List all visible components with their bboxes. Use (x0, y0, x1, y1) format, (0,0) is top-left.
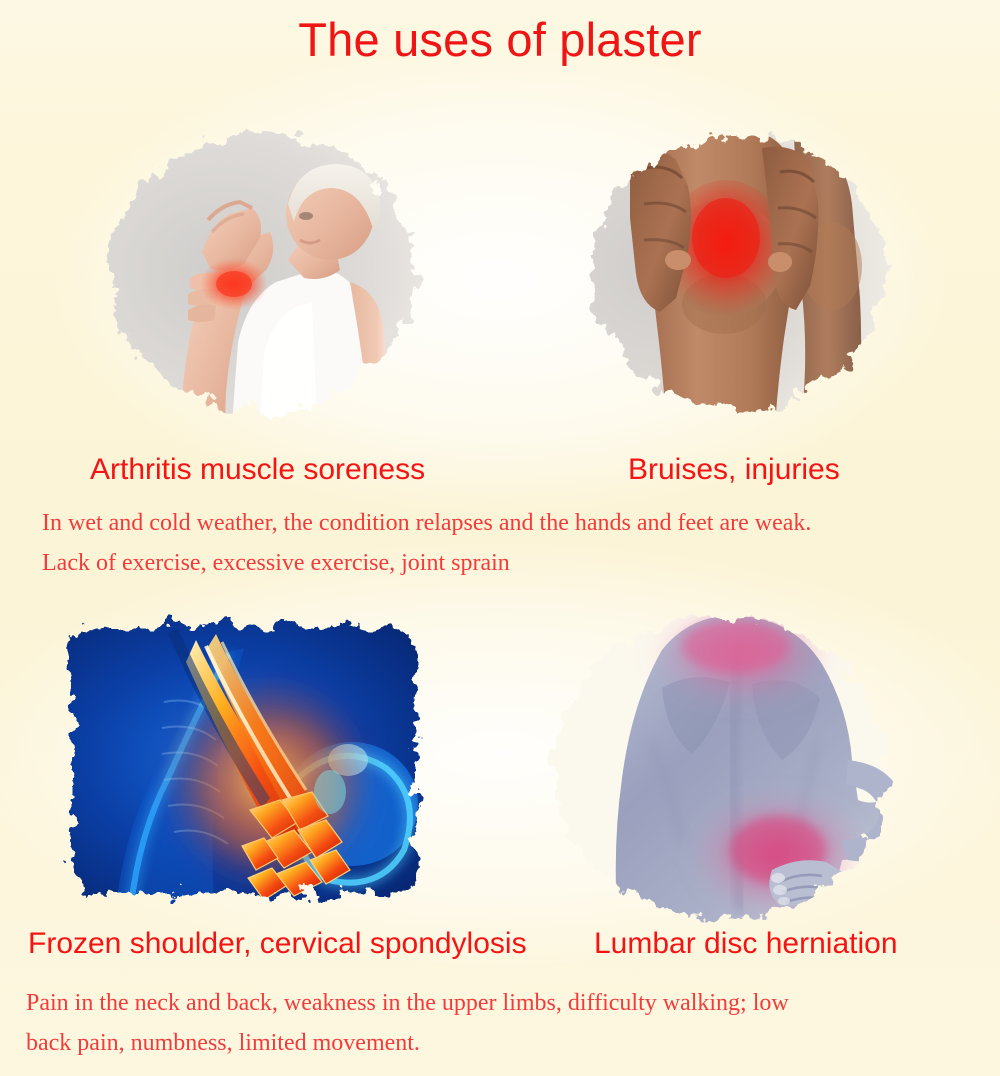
xray-shoulder-illustration (18, 592, 458, 922)
paragraph-upper-line-1: In wet and cold weather, the condition r… (42, 503, 972, 543)
caption-lumbar: Lumbar disc herniation (594, 926, 898, 962)
image-bruises-injuries (548, 98, 928, 446)
page-title: The uses of plaster (0, 12, 1000, 68)
image-arthritis-muscle-soreness (62, 92, 462, 452)
image-lumbar-disc-herniation (486, 592, 932, 924)
caption-frozen-shoulder: Frozen shoulder, cervical spondylosis (28, 926, 527, 962)
caption-bruises: Bruises, injuries (628, 452, 840, 488)
paragraph-upper-line-2: Lack of exercise, excessive exercise, jo… (42, 543, 972, 583)
image-frozen-shoulder (18, 592, 458, 922)
arthritis-illustration (62, 92, 462, 452)
infographic-page: The uses of plaster (0, 0, 1000, 1076)
paragraph-lower-line-2: back pain, numbness, limited movement. (26, 1023, 976, 1063)
paragraph-lower-line-1: Pain in the neck and back, weakness in t… (26, 983, 976, 1023)
paragraph-upper: In wet and cold weather, the condition r… (42, 503, 972, 583)
caption-arthritis: Arthritis muscle soreness (90, 452, 425, 488)
paragraph-lower: Pain in the neck and back, weakness in t… (26, 983, 976, 1063)
back-pain-illustration (486, 592, 932, 924)
knee-pain-illustration (548, 98, 928, 446)
